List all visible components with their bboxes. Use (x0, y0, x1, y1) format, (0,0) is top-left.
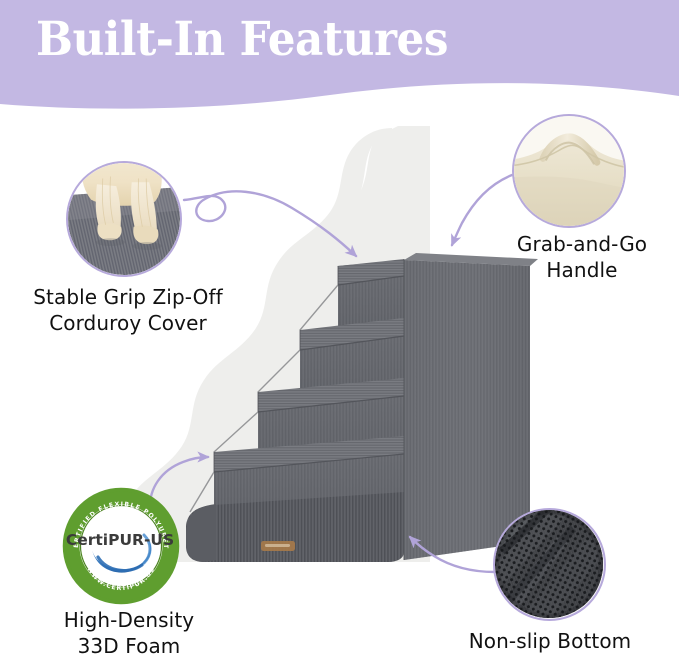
callout-label-corduroy: Stable Grip Zip-Off Corduroy Cover (8, 284, 248, 336)
certipur-us-badge: CONTAINS CERTIFIED FLEXIBLE POLYURETHANE… (62, 487, 180, 605)
callout-image-handle (512, 114, 626, 228)
product-brand-tag (261, 541, 295, 551)
callout-label-foam: High-Density 33D Foam (24, 607, 234, 658)
callout-image-nonslip (493, 508, 606, 621)
page-title: Built-In Features (36, 15, 448, 64)
infographic-canvas: Built-In Features (0, 0, 679, 658)
callout-image-corduroy (66, 161, 182, 277)
callout-label-nonslip: Non-slip Bottom (444, 628, 656, 654)
callout-label-handle: Grab-and-Go Handle (487, 231, 677, 283)
badge-registered-mark: ® (158, 532, 164, 539)
